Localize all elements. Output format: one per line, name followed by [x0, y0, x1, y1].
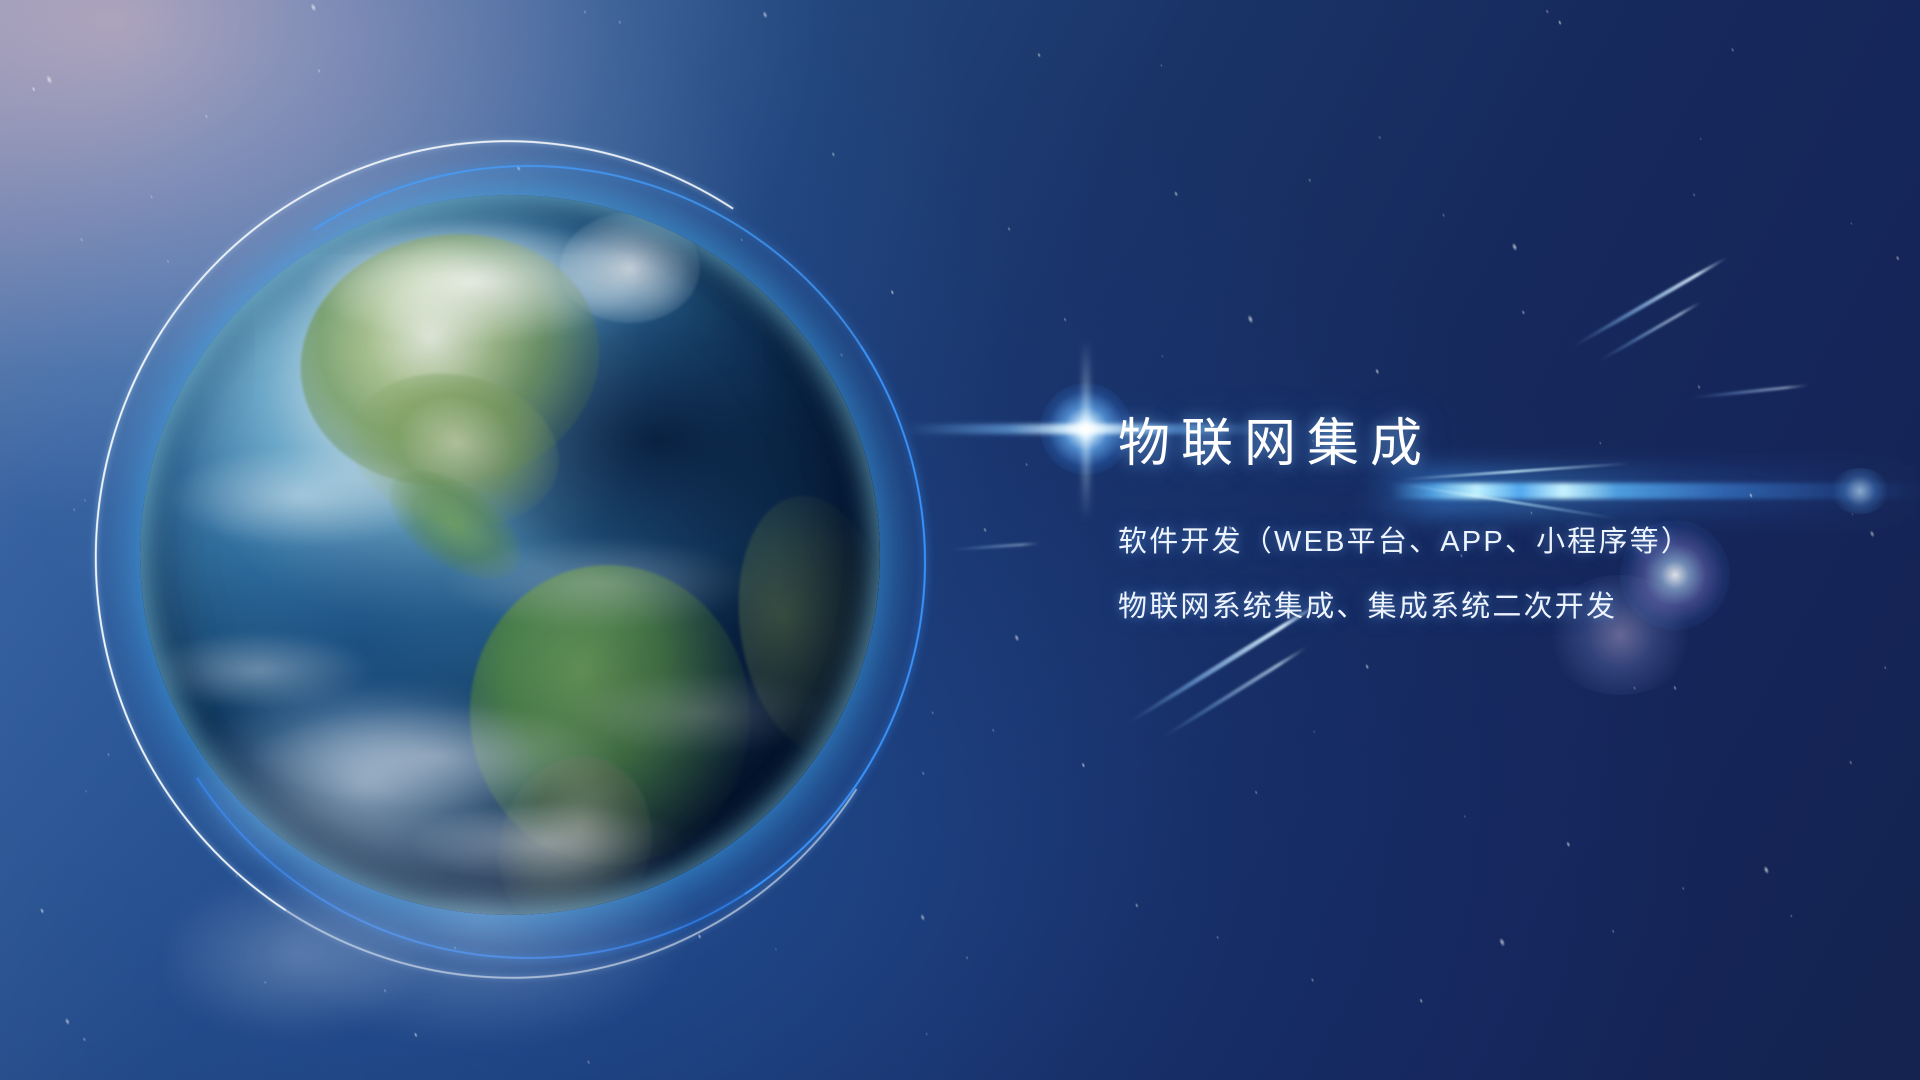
earth-globe [140, 195, 880, 915]
hero-banner: 物联网集成 软件开发（WEB平台、APP、小程序等） 物联网系统集成、集成系统二… [0, 0, 1920, 1080]
meteor-streak-icon [1162, 645, 1308, 738]
banner-subline-1: 软件开发（WEB平台、APP、小程序等） [1118, 528, 1858, 557]
blue-orbit-ring [58, 91, 1000, 1033]
title-flare-vertical-ray [1082, 340, 1090, 520]
meteor-streak-icon [1597, 300, 1702, 363]
meteor-streak-icon [950, 542, 1040, 551]
meteor-streak-icon [1571, 255, 1729, 348]
meteor-streak-icon [1690, 384, 1810, 400]
banner-subline-2: 物联网系统集成、集成系统二次开发 [1118, 593, 1858, 622]
page-title: 物联网集成 [1118, 418, 1858, 470]
banner-text-block: 物联网集成 软件开发（WEB平台、APP、小程序等） 物联网系统集成、集成系统二… [1118, 418, 1858, 622]
